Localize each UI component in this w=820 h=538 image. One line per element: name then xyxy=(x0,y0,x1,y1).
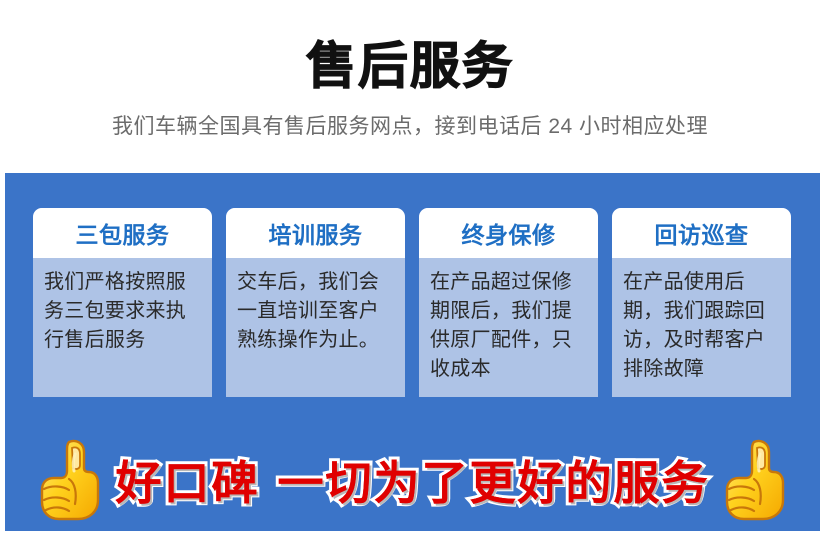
service-card-3-title: 终身保修 xyxy=(462,216,556,250)
service-card-1[interactable]: 三包服务 我们严格按照服务三包要求来执行售后服务 xyxy=(33,208,212,397)
service-panel: 三包服务 我们严格按照服务三包要求来执行售后服务 培训服务 交车后，我们会一直培… xyxy=(5,173,820,531)
service-card-1-text: 我们严格按照服务三包要求来执行售后服务 xyxy=(44,268,201,355)
service-card-3-text: 在产品超过保修期限后，我们提供原厂配件，只收成本 xyxy=(430,268,587,384)
service-card-4-body: 在产品使用后期，我们跟踪回访，及时帮客户排除故障 xyxy=(612,258,791,397)
page-header: 售后服务 我们车辆全国具有售后服务网点，接到电话后 24 小时相应处理 xyxy=(0,0,820,173)
service-card-1-title: 三包服务 xyxy=(76,216,170,250)
service-card-2-text: 交车后，我们会一直培训至客户熟练操作为止。 xyxy=(237,268,394,355)
service-card-4[interactable]: 回访巡查 在产品使用后期，我们跟踪回访，及时帮客户排除故障 xyxy=(612,208,791,397)
service-card-3-body: 在产品超过保修期限后，我们提供原厂配件，只收成本 xyxy=(419,258,598,397)
service-card-4-text: 在产品使用后期，我们跟踪回访，及时帮客户排除故障 xyxy=(623,268,780,384)
page-subtitle: 我们车辆全国具有售后服务网点，接到电话后 24 小时相应处理 xyxy=(0,112,820,142)
bottom-white-strip xyxy=(0,531,820,538)
slogan-banner: 好口碑 一切为了更好的服务 好口碑 一切为了更好的服务 xyxy=(5,428,820,531)
page-title: 售后服务 xyxy=(0,36,820,96)
service-card-2-title: 培训服务 xyxy=(269,216,363,250)
service-card-3[interactable]: 终身保修 在产品超过保修期限后，我们提供原厂配件，只收成本 xyxy=(419,208,598,397)
thumbs-up-icon xyxy=(724,438,786,522)
slogan-text: 好口碑 一切为了更好的服务 xyxy=(115,447,709,513)
service-card-1-header: 三包服务 xyxy=(33,208,212,258)
thumbs-up-icon xyxy=(39,438,101,522)
service-card-2-body: 交车后，我们会一直培训至客户熟练操作为止。 xyxy=(226,258,405,397)
service-card-4-header: 回访巡查 xyxy=(612,208,791,258)
service-card-1-body: 我们严格按照服务三包要求来执行售后服务 xyxy=(33,258,212,397)
service-card-3-header: 终身保修 xyxy=(419,208,598,258)
service-card-4-title: 回访巡查 xyxy=(655,216,749,250)
slogan-text-wrapper: 好口碑 一切为了更好的服务 好口碑 一切为了更好的服务 xyxy=(115,447,709,513)
service-card-2[interactable]: 培训服务 交车后，我们会一直培训至客户熟练操作为止。 xyxy=(226,208,405,397)
service-card-2-header: 培训服务 xyxy=(226,208,405,258)
service-cards-row: 三包服务 我们严格按照服务三包要求来执行售后服务 培训服务 交车后，我们会一直培… xyxy=(33,208,793,397)
